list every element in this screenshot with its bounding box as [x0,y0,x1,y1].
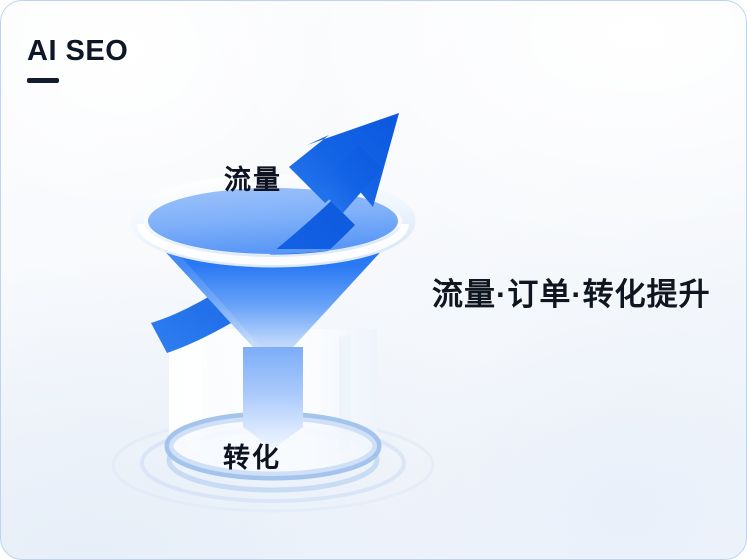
funnel-label-traffic: 流量 [224,158,282,197]
slide-card: AI SEO 流量·订单·转化提升 [0,0,747,560]
funnel-bowl-inner [148,188,398,254]
title-block: AI SEO [27,37,128,83]
title-underline-bar [27,78,59,83]
page-title: AI SEO [27,37,128,66]
funnel-label-conversion: 转化 [223,436,281,475]
tagline-text: 流量·订单·转化提升 [432,277,711,313]
